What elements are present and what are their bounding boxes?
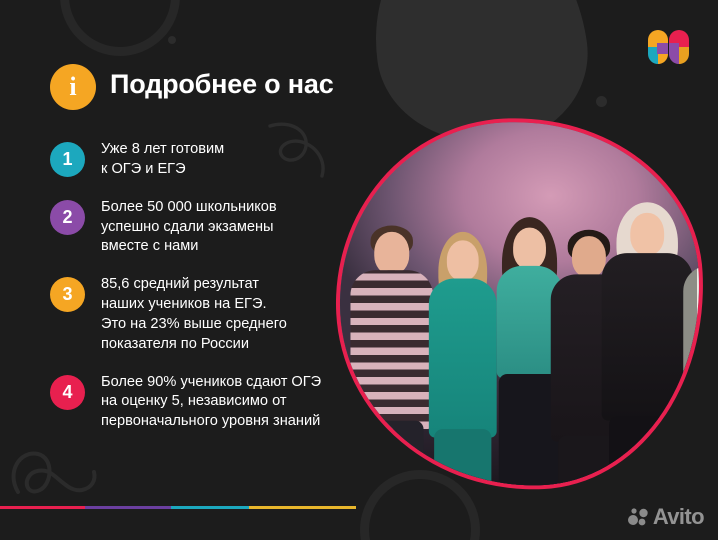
fact-text: Более 90% учеников сдают ОГЭ на оценку 5…	[101, 373, 321, 433]
list-item: 1 Уже 8 лет готовим к ОГЭ и ЕГЭ	[50, 140, 360, 180]
background-dot	[596, 96, 607, 107]
fact-number-badge: 2	[50, 200, 85, 235]
color-bar-segment	[249, 506, 356, 509]
fact-number-badge: 1	[50, 142, 85, 177]
color-bar	[0, 506, 356, 509]
avito-watermark: Avito	[628, 506, 704, 528]
fact-text: Более 50 000 школьников успешно сдали эк…	[101, 198, 277, 258]
person-figure	[679, 213, 713, 497]
photo-blob-frame	[327, 109, 714, 500]
color-bar-segment	[85, 506, 170, 509]
team-photo	[336, 118, 704, 490]
slide-canvas: i Подробнее о нас 1 Уже 8 лет готовим к …	[0, 0, 718, 540]
brand-logo-icon	[648, 30, 692, 64]
list-item: 4 Более 90% учеников сдают ОГЭ на оценку…	[50, 373, 360, 433]
background-dot	[168, 36, 176, 44]
fact-number-badge: 4	[50, 375, 85, 410]
color-bar-segment	[0, 506, 85, 509]
fact-text: Уже 8 лет готовим к ОГЭ и ЕГЭ	[101, 140, 224, 180]
background-ring	[60, 0, 180, 56]
page-title: Подробнее о нас	[110, 69, 334, 100]
color-bar-segment	[171, 506, 249, 509]
avito-wordmark: Avito	[653, 506, 704, 528]
info-icon-glyph: i	[69, 74, 76, 100]
avito-dots-icon	[628, 507, 650, 527]
info-icon: i	[50, 64, 96, 110]
photo-content	[329, 111, 711, 497]
fact-number-badge: 3	[50, 277, 85, 312]
facts-list: 1 Уже 8 лет готовим к ОГЭ и ЕГЭ 2 Более …	[50, 140, 360, 450]
list-item: 2 Более 50 000 школьников успешно сдали …	[50, 198, 360, 258]
fact-text: 85,6 средний результат наших учеников на…	[101, 275, 287, 354]
list-item: 3 85,6 средний результат наших учеников …	[50, 275, 360, 354]
